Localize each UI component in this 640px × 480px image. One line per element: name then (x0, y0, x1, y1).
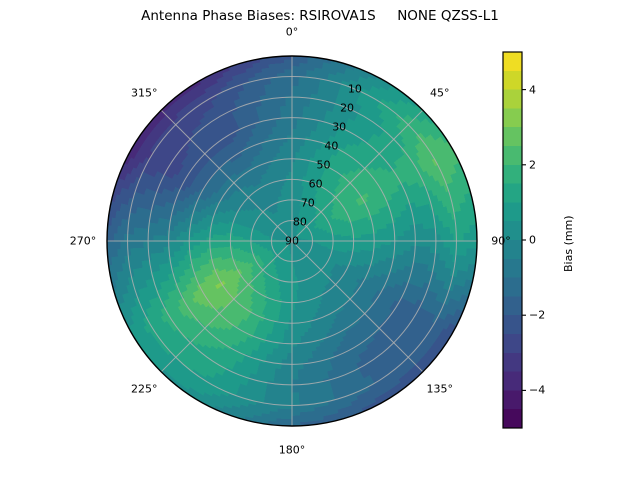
heatmap-cell (384, 245, 388, 249)
heatmap-cell (292, 155, 296, 158)
heatmap-cell (292, 162, 295, 165)
heatmap-cell (384, 233, 388, 237)
heatmap-cell (206, 241, 209, 245)
heatmap-cell (190, 245, 194, 250)
heatmap-cell (296, 149, 300, 153)
heatmap-cell (200, 237, 203, 241)
heatmap-cell (384, 237, 387, 241)
heatmap-cell (206, 234, 210, 238)
heatmap-cell (203, 245, 207, 249)
heatmap-cell (401, 241, 404, 246)
heatmap-cell (296, 336, 300, 340)
heatmap-cell (295, 317, 299, 321)
heatmap-cell (223, 244, 226, 247)
heatmap-cell (388, 237, 391, 241)
heatmap-cell (381, 233, 385, 237)
heatmap-cell (388, 241, 391, 245)
heatmap-cell (219, 244, 223, 247)
heatmap-cell (295, 304, 298, 307)
heatmap-cell (284, 333, 288, 337)
heatmap-cell (295, 307, 298, 310)
heatmap-cell (378, 233, 382, 237)
heatmap-cell (391, 245, 395, 250)
heatmap-cell (378, 237, 381, 241)
heatmap-cell (288, 155, 292, 158)
heatmap-cell (292, 327, 296, 330)
heatmap-cell (285, 165, 288, 169)
heatmap-cell (203, 237, 206, 241)
heatmap-cell (284, 152, 288, 156)
heatmap-cell (292, 132, 297, 135)
heatmap-cell (284, 149, 288, 153)
heatmap-cell (286, 175, 289, 178)
heatmap-cell (292, 340, 296, 343)
heatmap-cell (292, 139, 296, 142)
heatmap-cell (213, 238, 216, 241)
heatmap-cell (284, 330, 288, 334)
heatmap-cell (206, 237, 209, 241)
heatmap-cell (216, 244, 220, 247)
heatmap-cell (285, 323, 289, 327)
heatmap-cell (384, 241, 387, 245)
heatmap-cell (283, 139, 288, 143)
heatmap-cell (292, 125, 297, 128)
heatmap-cell (296, 340, 301, 344)
heatmap-cell (391, 237, 394, 241)
heatmap-cell (200, 245, 204, 249)
heatmap-cell (183, 236, 186, 241)
heatmap-cell (292, 333, 296, 336)
heatmap-cell (296, 333, 300, 337)
heatmap-cell (404, 241, 407, 246)
heatmap-cell (284, 327, 288, 331)
heatmap-cell (288, 149, 292, 152)
heatmap-cell (285, 162, 289, 166)
page-title: Antenna Phase Biases: RSIROVA1S NONE QZS… (0, 8, 640, 24)
heatmap-cell (288, 333, 292, 336)
heatmap-cell (289, 162, 292, 165)
heatmap-cell (292, 353, 297, 356)
heatmap-cell (193, 241, 196, 245)
heatmap-cell (295, 310, 298, 314)
heatmap-cell (288, 142, 292, 145)
heatmap-cell (283, 340, 288, 344)
heatmap-cell (287, 347, 292, 350)
heatmap-cell (288, 139, 292, 142)
heatmap-cell (287, 350, 292, 353)
heatmap-cell (193, 237, 196, 241)
heatmap-cell (196, 237, 199, 241)
heatmap-cell (196, 233, 200, 237)
heatmap-cell (287, 129, 292, 132)
heatmap-cell (203, 241, 206, 245)
heatmap-cell (193, 245, 197, 249)
heatmap-cell (190, 237, 193, 241)
heatmap-cell (213, 244, 217, 248)
heatmap-cell (378, 245, 382, 249)
heatmap-cell (292, 337, 296, 340)
heatmap-cell (368, 241, 371, 244)
heatmap-cell (292, 330, 296, 333)
heatmap-cell (287, 353, 292, 356)
heatmap-cell (378, 241, 381, 245)
heatmap-cell (296, 323, 300, 327)
heatmap-cell (180, 236, 183, 241)
heatmap-cell (284, 145, 288, 149)
heatmap-cell (374, 245, 378, 249)
heatmap-cell (206, 245, 210, 249)
heatmap-cell (203, 233, 207, 237)
heatmap-cell (404, 236, 407, 241)
heatmap-cell (190, 232, 194, 237)
heatmap-cell (288, 340, 292, 343)
heatmap-cell (292, 152, 296, 155)
heatmap-cell (193, 232, 197, 236)
heatmap-cell (391, 241, 394, 245)
heatmap-cell (401, 236, 404, 241)
heatmap-cell (296, 139, 301, 143)
heatmap-cell (289, 317, 292, 320)
heatmap-cell (381, 237, 384, 241)
heatmap-cell (361, 235, 365, 238)
heatmap-cell (288, 324, 292, 327)
heatmap-cell (286, 172, 289, 175)
heatmap-cell (226, 244, 229, 247)
heatmap-cell (288, 145, 292, 148)
heatmap-cell (368, 234, 372, 238)
heatmap-cell (286, 168, 289, 172)
heatmap-cell (200, 241, 203, 245)
heatmap-cell (183, 241, 186, 246)
heatmap-cell (375, 237, 378, 241)
heatmap-cell (292, 324, 296, 327)
heatmap-cell (292, 129, 297, 132)
heatmap-cell (391, 232, 395, 237)
heatmap-cell (288, 327, 292, 330)
heatmap-cell (288, 330, 292, 333)
heatmap-cell (387, 245, 391, 249)
heatmap-cell (296, 142, 300, 146)
heatmap-cell (387, 232, 391, 236)
heatmap-cell (196, 245, 200, 249)
heatmap-cell (296, 327, 300, 331)
heatmap-cell (296, 155, 300, 159)
matplotlib-figure: Antenna Phase Biases: RSIROVA1S NONE QZS… (0, 0, 640, 480)
heatmap-cell (196, 241, 199, 245)
heatmap-cell (292, 149, 296, 152)
heatmap-cell (288, 337, 292, 340)
heatmap-cell (200, 233, 204, 237)
heatmap-cell (374, 234, 378, 238)
heatmap-cell (398, 236, 401, 241)
heatmap-cell (285, 155, 289, 159)
heatmap-cell (292, 347, 297, 350)
heatmap-cell (292, 317, 295, 320)
heatmap-cell (375, 241, 378, 245)
heatmap-cell (295, 313, 298, 317)
heatmap-cell (180, 241, 183, 246)
heatmap-cell (287, 132, 292, 135)
heatmap-cell (213, 241, 216, 244)
heatmap-cell (190, 241, 193, 245)
heatmap-cell (292, 145, 296, 148)
heatmap-cell (296, 152, 300, 156)
heatmap-cell (381, 241, 384, 245)
heatmap-cell (283, 142, 287, 146)
heatmap-cell (381, 245, 385, 249)
heatmap-cell (288, 152, 292, 155)
heatmap-cell (398, 241, 401, 246)
heatmap-cell (283, 336, 287, 340)
heatmap-cell (292, 142, 296, 145)
heatmap-cell (296, 145, 300, 149)
heatmap-cell (358, 235, 361, 238)
heatmap-cell (296, 330, 300, 334)
heatmap-cell (292, 350, 297, 353)
heatmap-cell (355, 235, 358, 238)
heatmap-cell (364, 234, 368, 237)
heatmap-cell (368, 238, 371, 241)
